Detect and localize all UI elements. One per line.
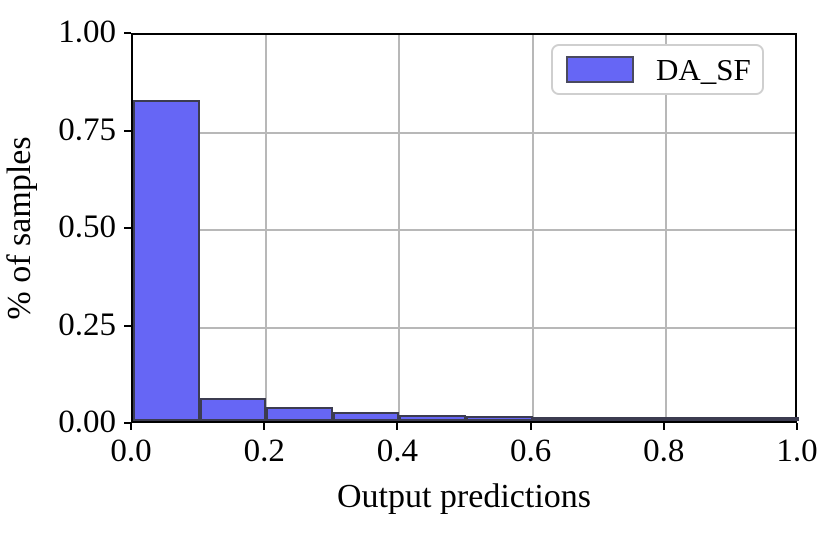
x-tick-mark [130,423,132,430]
histogram-bar [732,417,799,421]
histogram-bar [200,398,267,421]
histogram-bar [599,417,666,421]
x-tick-label: 0.2 [204,435,324,468]
x-tick-label: 0.8 [604,435,724,468]
x-tick-mark [663,423,665,430]
x-tick-mark [263,423,265,430]
y-tick-mark [124,32,131,34]
x-axis-label: Output predictions [131,477,797,517]
x-tick-label: 0.4 [337,435,457,468]
histogram-bar [399,415,466,421]
legend-label-da-sf: DA_SF [656,54,751,85]
y-tick-mark [124,227,131,229]
histogram-bar [333,412,400,421]
y-tick-label: 1.00 [0,16,116,49]
x-tick-label: 0.0 [71,435,191,468]
x-tick-label: 0.6 [471,435,591,468]
legend[interactable]: DA_SF [551,44,764,95]
histogram-bar [466,416,533,421]
x-tick-mark [530,423,532,430]
histogram-bar [533,417,600,421]
y-tick-mark [124,130,131,132]
x-tick-mark [396,423,398,430]
y-axis-label: % of samples [0,98,40,358]
histogram-figure: 0.000.250.500.751.00 0.00.20.40.60.81.0 … [0,0,822,536]
histogram-bar [266,407,333,421]
x-tick-mark [796,423,798,430]
legend-swatch-da-sf [566,56,634,83]
y-axis-label-wrapper: % of samples [0,98,40,358]
x-tick-label: 1.0 [737,435,822,468]
histogram-bar [133,100,200,421]
histogram-bar [666,417,733,421]
y-tick-mark [124,325,131,327]
